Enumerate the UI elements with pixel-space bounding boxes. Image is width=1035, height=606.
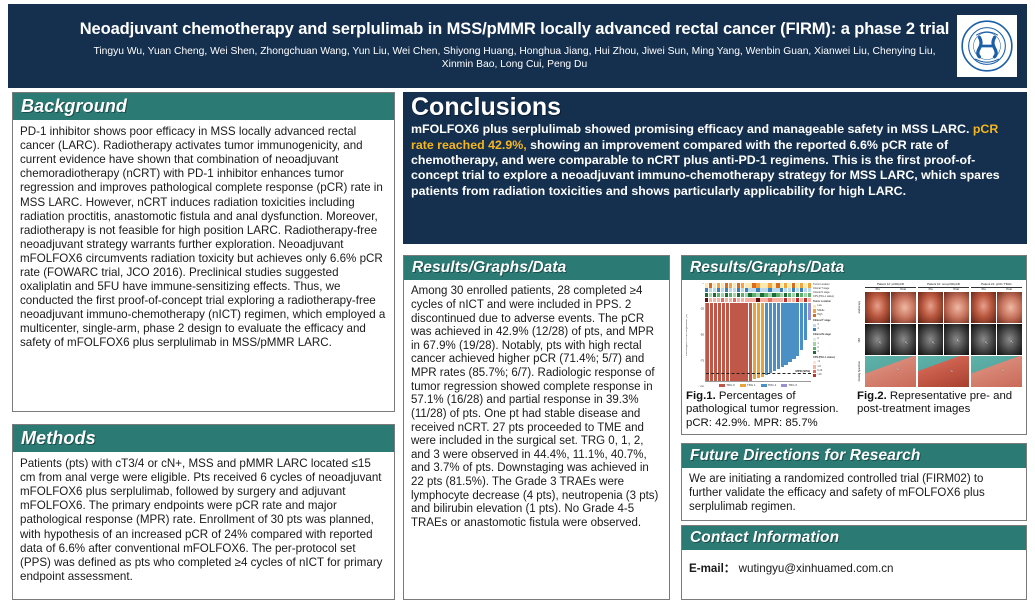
section-conclusions: Conclusions mFOLFOX6 plus serplulimab sh…: [403, 92, 1027, 244]
chart-annotation-cell: [792, 293, 795, 297]
chart-track-legend-swatch: [813, 361, 816, 364]
chart-annotation-cell: [760, 283, 763, 287]
chart-annotation-cell: [729, 293, 732, 297]
xinhua-hospital-logo: [957, 15, 1017, 77]
chart-bar: [765, 303, 768, 375]
chart-annotation-cell: [784, 288, 787, 292]
chart-annotation-cell: [741, 298, 744, 302]
chart-track-legend-label: 1-5: [817, 366, 820, 368]
specimen-image-p3: ↘: [971, 356, 1022, 387]
chart-bar: [737, 303, 740, 381]
chart-legend-swatch: [719, 384, 725, 387]
section-results-figures-heading: Results/Graphs/Data: [682, 256, 1026, 280]
chart-annotation-cell: [709, 293, 712, 297]
chart-track-legend-swatch: [813, 328, 816, 331]
chart-annotation-cell: [804, 298, 807, 302]
chart-mpr-label: MPR (90%): [796, 370, 810, 373]
chart-bar: [757, 303, 760, 378]
figures-row: Pathological Tumor Regression (%) 0-25-5…: [686, 283, 1022, 429]
chart-legend-swatch: [740, 384, 746, 387]
chart-annotation-cell: [752, 288, 755, 292]
chart-annotation-cell: [796, 293, 799, 297]
chart-track-legend-label: 4: [817, 328, 818, 330]
chart-annotation-cell: [709, 283, 712, 287]
chart-annotation-cell: [705, 293, 708, 297]
chart-annotation-cell: [725, 288, 728, 292]
chart-annotation-cell: [717, 288, 720, 292]
chart-annotation-cell: [756, 288, 759, 292]
figure-2-row-label: MRI: [857, 324, 863, 355]
chart-bar: [788, 303, 791, 362]
chart-track-legend-label: 1: [817, 343, 818, 345]
chart-annotation-cell: [705, 288, 708, 292]
chart-legend-item: TRG 2: [761, 384, 777, 388]
chart-legend-item: TRG 0: [719, 384, 735, 388]
section-results-text-body: Among 30 enrolled patients, 28 completed…: [404, 280, 669, 536]
chart-bar: [745, 303, 748, 381]
chart-bar: [726, 303, 729, 381]
chart-annotation-cell: [737, 298, 740, 302]
chart-annotation-cell: [796, 288, 799, 292]
chart-track-legend-row: 4: [813, 328, 851, 331]
chart-annotation-cell: [800, 288, 803, 292]
chart-annotation-cell: [772, 298, 775, 302]
chart-annotation-cell: [725, 283, 728, 287]
chart-annotation-cell: [752, 283, 755, 287]
chart-legend-swatch: [761, 384, 767, 387]
chart-annotation-cell: [733, 288, 736, 292]
chart-bar: [761, 303, 764, 377]
figure-1-label: Fig.1.: [686, 390, 716, 402]
chart-annotation-cell: [756, 293, 759, 297]
figure-2-patient-header: Patient 12: pCR/pCRPrePost: [865, 283, 916, 291]
chart-annotation-cell: [764, 283, 767, 287]
chart-bar: [781, 303, 784, 367]
chart-annotation-cell: [804, 293, 807, 297]
chart-bar: [741, 303, 744, 381]
chart-annotation-cell: [733, 293, 736, 297]
chart-annotation-cell: [729, 298, 732, 302]
chart-track-legend-row: 2: [813, 347, 851, 350]
figure-2-patient-header: Patient 31: non-pCR/pCRPrePost: [918, 283, 969, 291]
header-text-block: Neoadjuvant chemotherapy and serplulimab…: [8, 16, 957, 75]
chart-annotation-cell: [745, 293, 748, 297]
chart-bar: [733, 303, 736, 381]
chart-track-name: CPS (PD-L1 status): [813, 296, 851, 299]
figure-2-row-label: Resting Specimen: [857, 356, 863, 387]
chart-track-legend-row: Middle: [813, 309, 851, 312]
chart-annotation-cell: [709, 288, 712, 292]
chart-annotation-cell: [780, 298, 783, 302]
figure-2-column-1: ↖↖ ↘: [865, 292, 916, 388]
chart-bar: [753, 303, 756, 379]
chart-annotation-cell: [748, 288, 751, 292]
chart-plot-area: MPR (90%): [705, 303, 811, 382]
chart-annotation-cell: [741, 283, 744, 287]
specimen-image-p1: ↘: [865, 356, 916, 387]
chart-annotation-row: [705, 283, 811, 287]
chart-annotation-cell: [796, 298, 799, 302]
chart-track-legend-row: High: [813, 314, 851, 317]
chart-bar: [769, 303, 772, 373]
chart-legend-label: TRG 2: [768, 384, 777, 388]
chart-track-legend-swatch: [813, 374, 816, 377]
chart-annotation-cell: [748, 283, 751, 287]
chart-annotation-cell: [768, 298, 771, 302]
chart-legend-label: TRG 0: [726, 384, 735, 388]
chart-track-legend-row: 0: [813, 338, 851, 341]
section-background-heading: Background: [13, 93, 394, 120]
chart-annotation-legend: Tumor LocationClinical T stageClinical N…: [811, 283, 851, 387]
chart-bar: [773, 303, 776, 372]
chart-annotation-cell: [772, 283, 775, 287]
mri-post-image-p2: ↖: [944, 324, 969, 355]
chart-annotation-cell: [717, 293, 720, 297]
chart-track-legend-swatch: [813, 365, 816, 368]
chart-annotation-tracks: [705, 283, 811, 303]
chart-annotation-cell: [748, 298, 751, 302]
chart-track-legend-label: >10: [817, 374, 821, 376]
figure-2-image-grid: EndoscopyMRIResting Specimen ↖↖ ↘ ↖↖ ↘: [857, 292, 1022, 388]
chart-track-legend-label: 2: [817, 347, 818, 349]
chart-track-legend-swatch: [813, 347, 816, 350]
section-methods-heading: Methods: [13, 425, 394, 452]
chart-annotation-cell: [717, 283, 720, 287]
chart-annotation-cell: [729, 288, 732, 292]
hospital-emblem-icon: [960, 19, 1014, 73]
chart-track-legend-label: 5-10: [817, 370, 822, 372]
section-future-directions: Future Directions for Research We are in…: [681, 443, 1027, 521]
chart-track-legend-swatch: [813, 370, 816, 373]
figure-2-label: Fig.2.: [857, 390, 887, 402]
chart-annotation-cell: [768, 288, 771, 292]
chart-legend-item: TRG 1: [740, 384, 756, 388]
chart-track-legend-row: 1-5: [813, 365, 851, 368]
chart-annotation-cell: [737, 293, 740, 297]
chart-bar: [718, 303, 721, 381]
chart-bar: [800, 303, 803, 350]
chart-annotation-cell: [725, 293, 728, 297]
email-label: E-mail：: [689, 562, 735, 575]
chart-annotation-cell: [768, 293, 771, 297]
figures-body: Pathological Tumor Regression (%) 0-25-5…: [682, 280, 1026, 431]
section-methods-body: Patients (pts) with cT3/4 or cN+, MSS an…: [13, 452, 394, 590]
figure-2-row-labels: EndoscopyMRIResting Specimen: [857, 292, 863, 388]
chart-annotation-cell: [764, 288, 767, 292]
figure-1-waterfall-chart: Pathological Tumor Regression (%) 0-25-5…: [686, 283, 851, 387]
chart-annotation-row: [705, 298, 811, 302]
chart-track-legend-swatch: [813, 314, 816, 317]
chart-annotation-cell: [772, 288, 775, 292]
chart-track-legend-row: <1: [813, 361, 851, 364]
chart-annotation-cell: [713, 288, 716, 292]
chart-annotation-cell: [784, 283, 787, 287]
chart-legend-label: TRG 1: [747, 384, 756, 388]
chart-annotation-row: [705, 293, 811, 297]
endoscopy-post-image-p2: [944, 292, 969, 323]
chart-track-legend-label: 3: [817, 324, 818, 326]
chart-annotation-cell: [721, 288, 724, 292]
endoscopy-pre-image-p3: [971, 292, 996, 323]
chart-bar: [804, 303, 807, 340]
chart-annotation-cell: [721, 293, 724, 297]
chart-y-tick: 0: [702, 283, 704, 285]
chart-annotation-cell: [713, 293, 716, 297]
chart-y-tick: -25: [700, 308, 704, 311]
endoscopy-post-image-p3: [997, 292, 1022, 323]
email-address[interactable]: wutingyu@xinhuamed.com.cn: [739, 562, 894, 575]
chart-track-legend-label: 3: [817, 351, 818, 353]
figure-2-patient-headers: Patient 12: pCR/pCRPrePostPatient 31: no…: [857, 283, 1022, 291]
mri-pre-image-p3: ↖: [971, 324, 996, 355]
chart-annotation-cell: [760, 293, 763, 297]
chart-legend-item: TRG 3: [781, 384, 797, 388]
chart-annotation-cell: [788, 298, 791, 302]
chart-track-legend-label: Middle: [817, 310, 824, 312]
chart-y-tick: -50: [700, 334, 704, 337]
chart-annotation-cell: [725, 298, 728, 302]
poster-canvas: Neoadjuvant chemotherapy and serplulimab…: [0, 0, 1035, 606]
chart-annotation-cell: [776, 288, 779, 292]
chart-annotation-cell: [737, 283, 740, 287]
chart-track-legend-label: 0: [817, 338, 818, 340]
chart-y-axis-label: Pathological Tumor Regression (%): [686, 314, 693, 356]
section-results-text: Results/Graphs/Data Among 30 enrolled pa…: [403, 255, 670, 600]
conclusions-text-part1: mFOLFOX6 plus serplulimab showed promisi…: [411, 122, 973, 136]
chart-track-legend-row: Low: [813, 305, 851, 308]
chart-y-tick: -100: [698, 386, 704, 388]
chart-bar: [722, 303, 725, 381]
chart-y-axis-ticks: 0-25-50-75-100: [693, 283, 705, 387]
chart-annotation-cell: [705, 298, 708, 302]
figure-1-caption: Fig.1. Percentages of pathological tumor…: [686, 390, 851, 429]
chart-annotation-cell: [721, 283, 724, 287]
chart-annotation-cell: [760, 298, 763, 302]
endoscopy-post-image-p1: [891, 292, 916, 323]
chart-track-legend-label: High: [817, 314, 822, 316]
section-results-text-heading: Results/Graphs/Data: [404, 256, 669, 280]
chart-annotation-cell: [776, 298, 779, 302]
chart-annotation-cell: [764, 298, 767, 302]
chart-annotation-cell: [788, 293, 791, 297]
chart-annotation-cell: [709, 298, 712, 302]
chart-annotation-cell: [717, 298, 720, 302]
chart-legend-label: TRG 3: [788, 384, 797, 388]
chart-annotation-cell: [788, 288, 791, 292]
chart-annotation-cell: [796, 283, 799, 287]
chart-track-legend-label: Low: [817, 305, 821, 307]
chart-annotation-cell: [784, 293, 787, 297]
chart-mpr-threshold-line: MPR (90%): [706, 373, 811, 374]
chart-annotation-cell: [721, 298, 724, 302]
chart-bar: [792, 303, 795, 359]
section-conclusions-body: mFOLFOX6 plus serplulimab showed promisi…: [411, 122, 1019, 199]
chart-annotation-cell: [756, 283, 759, 287]
chart-annotation-cell: [745, 288, 748, 292]
section-background: Background PD-1 inhibitor shows poor eff…: [12, 92, 395, 412]
chart-y-tick: -75: [700, 360, 704, 363]
section-background-body: PD-1 inhibitor shows poor efficacy in MS…: [13, 120, 394, 356]
chart-annotation-cell: [733, 283, 736, 287]
mri-pre-image-p1: ↖: [865, 324, 890, 355]
chart-annotation-cell: [745, 298, 748, 302]
figure-2-block: Patient 12: pCR/pCRPrePostPatient 31: no…: [857, 283, 1022, 416]
chart-annotation-cell: [792, 298, 795, 302]
figure-2-patient-images: Patient 12: pCR/pCRPrePostPatient 31: no…: [857, 283, 1022, 387]
chart-annotation-cell: [713, 298, 716, 302]
mri-pre-image-p2: ↖: [918, 324, 943, 355]
author-list: Tingyu Wu, Yuan Cheng, Wei Shen, Zhongch…: [78, 45, 951, 72]
chart-track-legend-row: 5-10: [813, 370, 851, 373]
chart-annotation-cell: [745, 283, 748, 287]
chart-annotation-cell: [780, 283, 783, 287]
chart-track-legend-row: 3: [813, 324, 851, 327]
chart-legend: TRG 0TRG 1TRG 2TRG 3: [705, 382, 811, 388]
chart-track-legend-swatch: [813, 338, 816, 341]
chart-legend-swatch: [781, 384, 787, 387]
mri-post-image-p1: ↖: [891, 324, 916, 355]
chart-track-legend-swatch: [813, 351, 816, 354]
chart-bar: [714, 303, 717, 381]
chart-bar: [730, 303, 733, 381]
chart-annotation-cell: [752, 293, 755, 297]
section-contact-information: Contact Information E-mail： wutingyu@xin…: [681, 525, 1027, 600]
section-contact-heading: Contact Information: [682, 526, 1026, 550]
figure-2-column-3: ↖↖ ↘: [971, 292, 1022, 388]
chart-annotation-cell: [768, 283, 771, 287]
chart-annotation-cell: [705, 283, 708, 287]
poster-header: Neoadjuvant chemotherapy and serplulimab…: [8, 4, 1027, 88]
chart-annotation-cell: [792, 288, 795, 292]
chart-annotation-cell: [800, 293, 803, 297]
figure-2-patient-header: Patient 21: pCR / TRG1PrePost: [971, 283, 1022, 291]
chart-bar: [796, 303, 799, 356]
figure-2-row-label: Endoscopy: [857, 292, 863, 323]
chart-annotation-cell: [741, 288, 744, 292]
chart-annotation-cell: [804, 288, 807, 292]
mri-post-image-p3: ↖: [997, 324, 1022, 355]
endoscopy-pre-image-p1: [865, 292, 890, 323]
chart-annotation-cell: [788, 283, 791, 287]
chart-bar: [710, 303, 713, 381]
chart-bar: [808, 303, 811, 320]
section-contact-body: E-mail： wutingyu@xinhuamed.com.cn: [682, 550, 1026, 582]
section-conclusions-heading: Conclusions: [411, 94, 1019, 120]
chart-track-legend-swatch: [813, 309, 816, 312]
chart-annotation-cell: [776, 293, 779, 297]
chart-annotation-cell: [800, 283, 803, 287]
section-methods: Methods Patients (pts) with cT3/4 or cN+…: [12, 424, 395, 600]
chart-annotation-cell: [784, 298, 787, 302]
chart-annotation-cell: [772, 293, 775, 297]
specimen-image-p2: ↘: [918, 356, 969, 387]
page-title: Neoadjuvant chemotherapy and serplulimab…: [78, 20, 951, 39]
endoscopy-pre-image-p2: [918, 292, 943, 323]
chart-annotation-cell: [804, 283, 807, 287]
chart-track-legend-row: 3: [813, 351, 851, 354]
figure-2-caption: Fig.2. Representative pre- and post-trea…: [857, 390, 1022, 416]
chart-annotation-cell: [756, 298, 759, 302]
chart-annotation-cell: [800, 298, 803, 302]
chart-track-legend-swatch: [813, 342, 816, 345]
chart-track-legend-label: <1: [817, 361, 820, 363]
chart-bar: [784, 303, 787, 365]
chart-annotation-cell: [752, 298, 755, 302]
chart-track-legend-swatch: [813, 324, 816, 327]
chart-annotation-cell: [780, 293, 783, 297]
chart-track-legend-row: >10: [813, 374, 851, 377]
chart-annotation-cell: [764, 293, 767, 297]
chart-bar: [749, 303, 752, 381]
chart-annotation-cell: [776, 283, 779, 287]
figure-2-header-spacer: [857, 283, 863, 291]
section-future-body: We are initiating a randomized controlle…: [682, 468, 1026, 520]
chart-annotation-cell: [729, 283, 732, 287]
section-future-heading: Future Directions for Research: [682, 444, 1026, 468]
chart-annotation-cell: [792, 283, 795, 287]
figure-2-column-2: ↖↖ ↘: [918, 292, 969, 388]
chart-bar: [777, 303, 780, 369]
chart-track-legend-swatch: [813, 305, 816, 308]
chart-annotation-cell: [713, 283, 716, 287]
chart-bar: [706, 303, 709, 381]
figure-1-block: Pathological Tumor Regression (%) 0-25-5…: [686, 283, 851, 429]
chart-annotation-cell: [760, 288, 763, 292]
chart-annotation-cell: [741, 293, 744, 297]
chart-annotation-row: [705, 288, 811, 292]
section-results-figures: Results/Graphs/Data Pathological Tumor R…: [681, 255, 1027, 435]
chart-annotation-cell: [780, 288, 783, 292]
chart-track-legend-row: 1: [813, 342, 851, 345]
chart-annotation-cell: [733, 298, 736, 302]
chart-annotation-cell: [737, 288, 740, 292]
chart-annotation-cell: [748, 293, 751, 297]
